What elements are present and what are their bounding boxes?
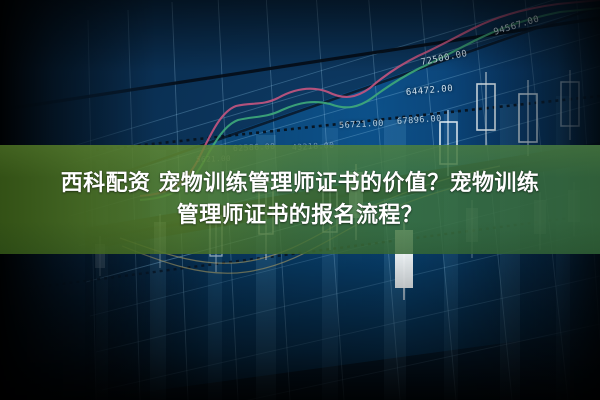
- title-line-2: 管理师证书的报名流程？: [177, 201, 423, 231]
- title-line-1: 西科配资 宠物训练管理师证书的价值？宠物训练: [61, 169, 539, 199]
- promo-banner-image: 94567.00 72500.00 64472.00 67896.00 5672…: [0, 0, 600, 400]
- banner-title-block: 西科配资 宠物训练管理师证书的价值？宠物训练 管理师证书的报名流程？: [0, 145, 600, 254]
